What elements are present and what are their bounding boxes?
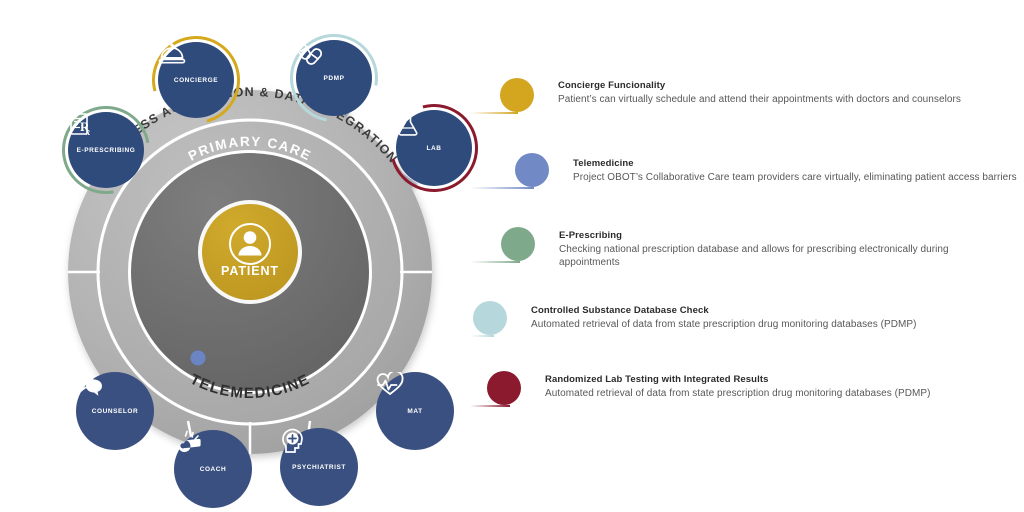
legend-connector-line: [470, 335, 494, 337]
legend-title: E-Prescribing: [559, 230, 1009, 242]
legend-title: Concierge Funcionality: [558, 80, 1008, 92]
badge-label: MAT: [407, 409, 422, 416]
patient-label: PATIENT: [221, 264, 279, 278]
telemedicine-bullet-dot: [191, 351, 206, 366]
legend-connector-line: [470, 187, 534, 189]
badge-label: PDMP: [324, 76, 345, 83]
badge-psychiatrist[interactable]: PSYCHIATRIST: [280, 428, 358, 506]
badge-label: CONCIERGE: [174, 78, 218, 85]
legend-dot: [501, 227, 535, 261]
badge-lab[interactable]: LAB: [396, 110, 472, 186]
badge-label: COUNSELOR: [92, 409, 138, 416]
legend-connector-line: [470, 261, 520, 263]
badge-pdmp[interactable]: PDMP: [296, 40, 372, 116]
badge-label: COACH: [200, 467, 227, 474]
badge-counselor[interactable]: COUNSELOR: [76, 372, 154, 450]
legend-body: Project OBOT’s Collaborative Care team p…: [573, 171, 1024, 185]
svg-text:x: x: [86, 128, 90, 137]
badge-coach[interactable]: COACH: [174, 430, 252, 508]
legend-title: Controlled Substance Database Check: [531, 305, 991, 317]
legend-dot: [500, 78, 534, 112]
legend-connector-line: [470, 405, 510, 407]
legend-dot: [515, 153, 549, 187]
legend-panel: Concierge Funcionality Patient’s can vir…: [470, 0, 1024, 512]
diagram-canvas: PROCESS AUTOMATION & DATA INTEGRATION PR…: [0, 0, 1024, 512]
badge-label: E-PRESCRIBING: [77, 148, 136, 155]
care-model-wheel: PROCESS AUTOMATION & DATA INTEGRATION PR…: [0, 0, 500, 512]
badge-concierge[interactable]: CONCIERGE: [158, 42, 234, 118]
legend-body: Automated retrieval of data from state p…: [545, 387, 995, 401]
legend-title: Telemedicine: [573, 158, 1024, 170]
legend-body: Checking national prescription database …: [559, 243, 1009, 270]
legend-connector-line: [470, 112, 518, 114]
legend-dot: [487, 371, 521, 405]
badge-label: PSYCHIATRIST: [292, 465, 346, 472]
badge-e-prescribing[interactable]: R x E-PRESCRIBING: [68, 112, 144, 188]
legend-dot: [473, 301, 507, 335]
legend-title: Randomized Lab Testing with Integrated R…: [545, 374, 995, 386]
legend-body: Patient’s can virtually schedule and att…: [558, 93, 1008, 107]
legend-body: Automated retrieval of data from state p…: [531, 318, 991, 332]
badge-mat[interactable]: MAT: [376, 372, 454, 450]
badge-label: LAB: [426, 146, 441, 153]
